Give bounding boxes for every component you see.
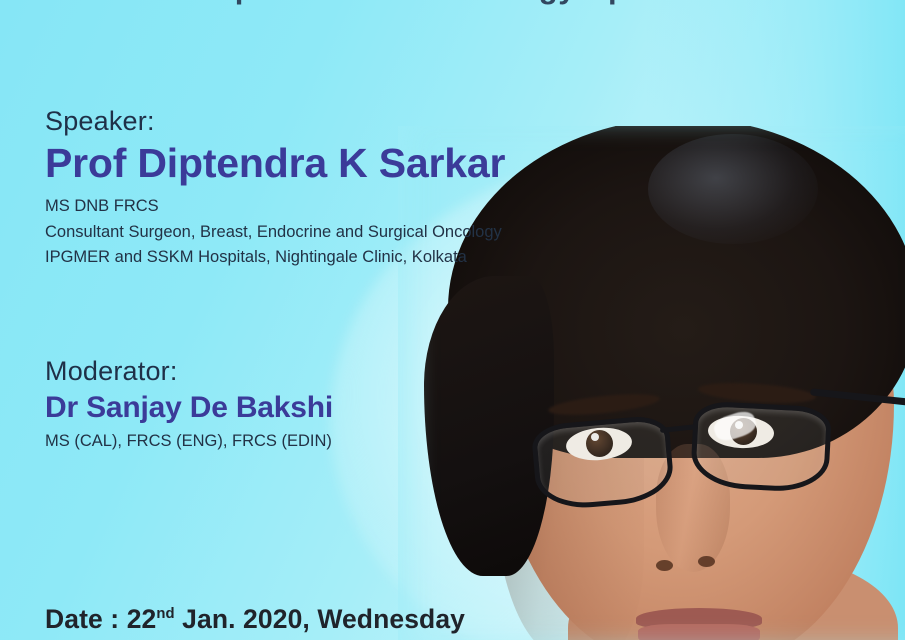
speaker-credential-line-1: MS DNB FRCS <box>45 194 505 220</box>
portrait-nostril-right <box>698 556 715 567</box>
eyeglass-lens-right <box>690 400 832 493</box>
speaker-section: Speaker: Prof Diptendra K Sarkar MS DNB … <box>45 108 505 271</box>
eyeglass-lens-left <box>531 414 676 512</box>
portrait-lower-lip <box>638 624 760 640</box>
portrait-eyeglasses <box>518 396 905 506</box>
portrait-hair-highlight <box>648 134 818 244</box>
speaker-name: Prof Diptendra K Sarkar <box>45 143 505 184</box>
speaker-label: Speaker: <box>45 108 505 135</box>
event-date-suffix: Jan. 2020, Wednesday <box>175 604 465 634</box>
event-date: Date : 22nd Jan. 2020, Wednesday <box>45 604 465 635</box>
event-date-ordinal: nd <box>156 606 174 622</box>
cutoff-heading-remnant: Apollo Breast Oncology Update <box>0 0 905 10</box>
moderator-credentials: MS (CAL), FRCS (ENG), FRCS (EDIN) <box>45 429 333 454</box>
portrait-nostril-left <box>656 560 673 571</box>
speaker-credential-line-3: IPGMER and SSKM Hospitals, Nightingale C… <box>45 245 505 271</box>
moderator-name: Dr Sanjay De Bakshi <box>45 393 333 423</box>
event-date-prefix: Date : 22 <box>45 604 156 634</box>
event-announcement-poster: Apollo Breast Oncology Update <box>0 0 905 640</box>
speaker-credential-line-2: Consultant Surgeon, Breast, Endocrine an… <box>45 220 505 246</box>
moderator-label: Moderator: <box>45 358 333 385</box>
moderator-section: Moderator: Dr Sanjay De Bakshi MS (CAL),… <box>45 358 333 454</box>
